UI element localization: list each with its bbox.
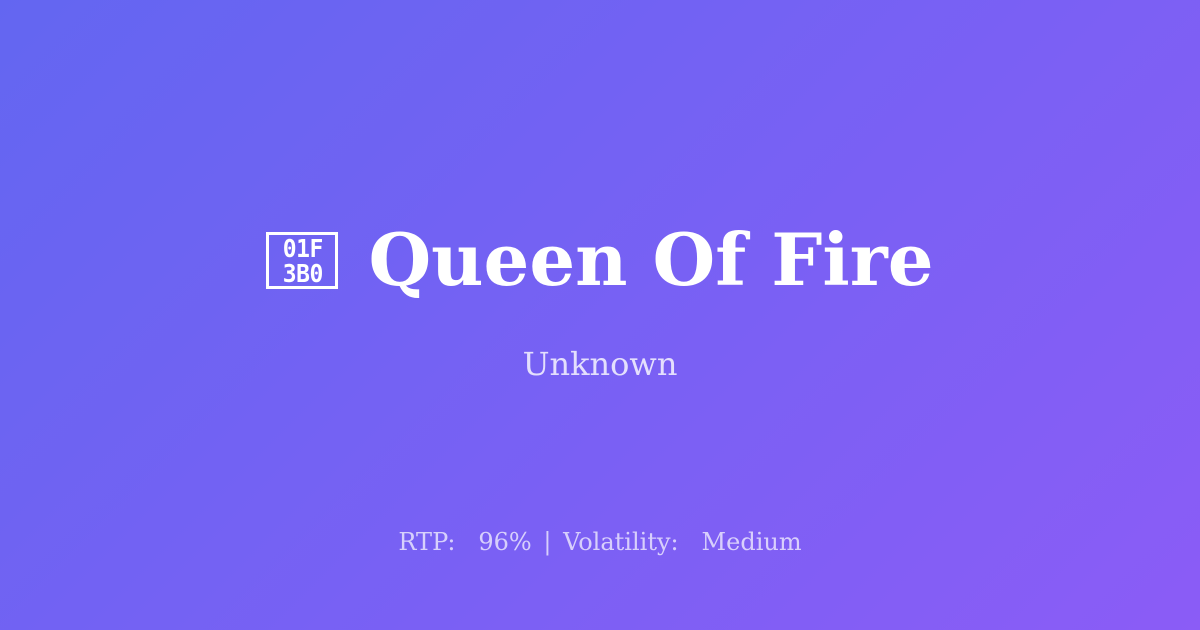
rtp-value: 96%	[478, 528, 531, 556]
volatility-value: Medium	[702, 528, 802, 556]
game-og-card: 01F 3B0 Queen Of Fire Unknown RTP: 96% |…	[0, 0, 1200, 630]
hero-block: 01F 3B0 Queen Of Fire Unknown	[0, 206, 1200, 386]
meta-separator: |	[539, 528, 555, 556]
rtp-label: RTP:	[398, 528, 455, 556]
page-title: Queen Of Fire	[368, 218, 933, 302]
slot-machine-icon-codepoint-top: 01F	[282, 236, 322, 261]
volatility-label: Volatility:	[563, 528, 679, 556]
game-meta-line: RTP: 96% | Volatility: Medium	[0, 527, 1200, 557]
slot-machine-icon: 01F 3B0	[266, 232, 338, 289]
title-row: 01F 3B0 Queen Of Fire	[266, 206, 933, 314]
slot-machine-icon-codepoint-bottom: 3B0	[282, 261, 322, 286]
game-provider-subtitle: Unknown	[523, 342, 678, 386]
